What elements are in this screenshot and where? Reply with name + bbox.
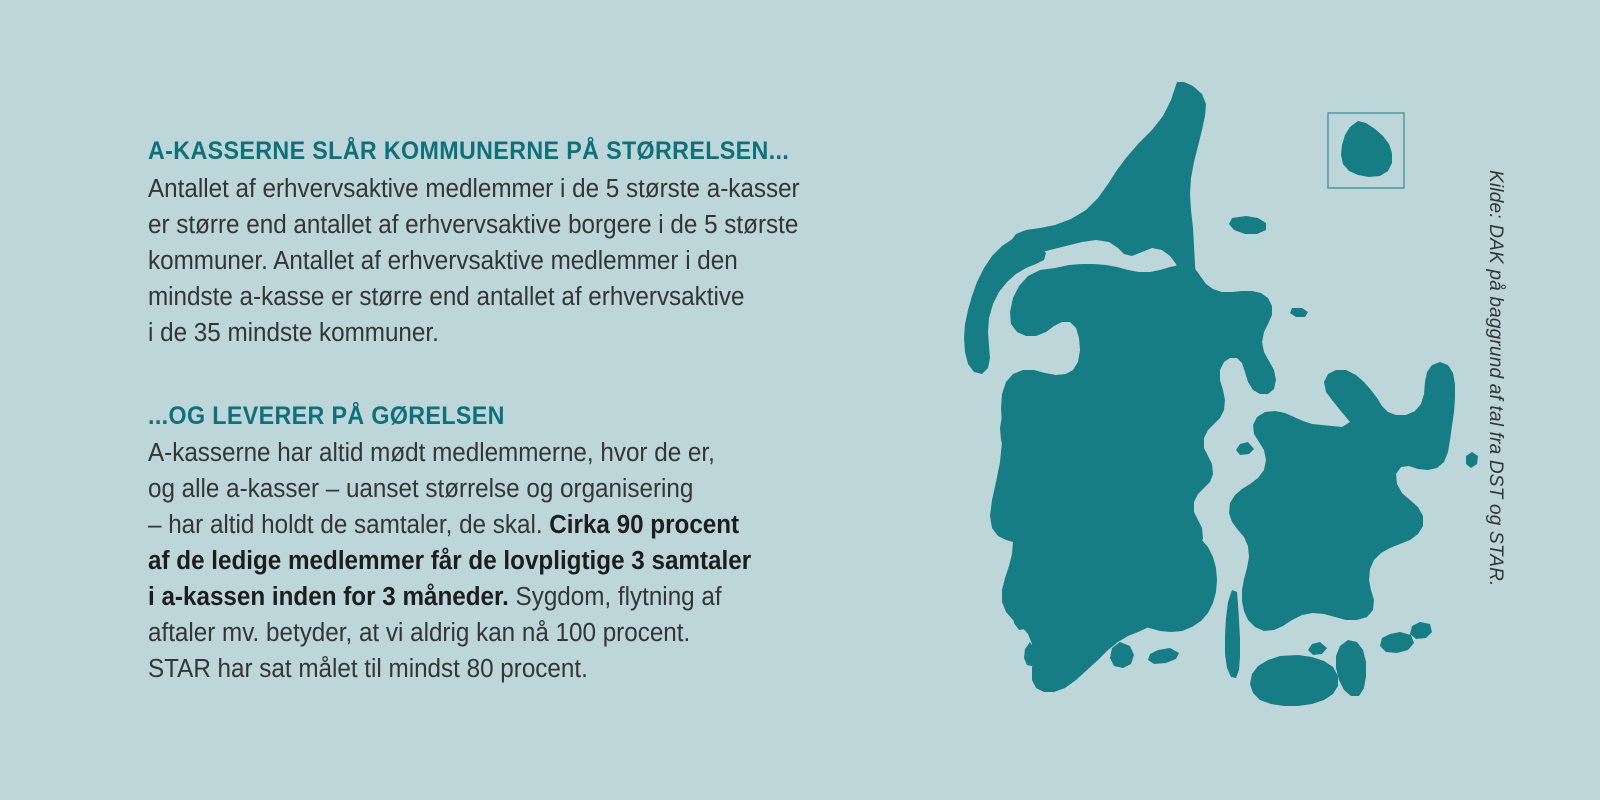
body-run: og alle a-kasser – uanset størrelse og o… (148, 475, 693, 503)
map-region-laeso (1229, 216, 1266, 234)
body-line: STAR har sat målet til mindst 80 procent… (148, 651, 870, 687)
map-region-ven (1466, 452, 1478, 468)
map-region-anholt (1290, 308, 1308, 317)
section-delivery: ...OG LEVERER PÅ GØRELSEN A-kasserne har… (148, 403, 908, 688)
infographic-canvas: A-KASSERNE SLÅR KOMMUNERNE PÅ STØRRELSEN… (0, 0, 1600, 800)
body-line: aftaler mv. betyder, at vi aldrig kan nå… (148, 615, 870, 651)
body-line: mindste a-kasse er større end antallet a… (148, 279, 870, 315)
body-run: Sygdom, flytning af (509, 583, 722, 611)
body-line: er større end antallet af erhvervsaktive… (148, 207, 870, 243)
body-line: i de 35 mindste kommuner. (148, 315, 870, 351)
body-line: af de ledige medlemmer får de lovpligtig… (148, 543, 870, 579)
body-line: – har altid holdt de samtaler, de skal. … (148, 507, 870, 543)
body-run: aftaler mv. betyder, at vi aldrig kan nå… (148, 619, 690, 647)
map-region-lolland (1250, 655, 1338, 706)
section-size-body: Antallet af erhvervsaktive medlemmer i d… (148, 171, 870, 351)
section-delivery-body: A-kasserne har altid mødt medlemmerne, h… (148, 435, 870, 687)
map-region-aero (1148, 648, 1179, 664)
source-credit: Kilde: DAK på baggrund af tal fra DST og… (1484, 170, 1506, 587)
map-region-mon (1380, 632, 1414, 653)
body-line: og alle a-kasser – uanset størrelse og o… (148, 471, 870, 507)
body-line: Antallet af erhvervsaktive medlemmer i d… (148, 171, 870, 207)
body-run-bold: af de ledige medlemmer får de lovpligtig… (148, 547, 751, 575)
body-run: – har altid holdt de samtaler, de skal. (148, 511, 549, 539)
denmark-map (880, 70, 1480, 710)
map-region-bornholm (1341, 121, 1392, 177)
map-region-langeland (1225, 590, 1240, 678)
bornholm-inset (1328, 113, 1404, 188)
map-region-sejero (1236, 442, 1254, 455)
body-run: STAR har sat målet til mindst 80 procent… (148, 655, 588, 683)
body-run-bold: i a-kassen inden for 3 måneder. (148, 583, 509, 611)
section-size-heading: A-KASSERNE SLÅR KOMMUNERNE PÅ STØRRELSEN… (148, 138, 855, 166)
map-region-sjaelland (1229, 362, 1455, 631)
text-column: A-KASSERNE SLÅR KOMMUNERNE PÅ STØRRELSEN… (148, 138, 908, 687)
section-size: A-KASSERNE SLÅR KOMMUNERNE PÅ STØRRELSEN… (148, 138, 908, 351)
map-region-falster (1336, 640, 1366, 696)
map-region-lolland-isle (1308, 642, 1327, 655)
body-line: i a-kassen inden for 3 måneder. Sygdom, … (148, 579, 870, 615)
body-line: A-kasserne har altid mødt medlemmerne, h… (148, 435, 870, 471)
body-line: kommuner. Antallet af erhvervsaktive med… (148, 243, 870, 279)
section-spacer (148, 351, 908, 403)
body-run: A-kasserne har altid mødt medlemmerne, h… (148, 439, 715, 467)
section-delivery-heading: ...OG LEVERER PÅ GØRELSEN (148, 403, 855, 431)
body-run-bold: Cirka 90 procent (549, 511, 739, 539)
map-region-mon-east (1410, 622, 1432, 639)
map-region-als (1110, 642, 1134, 668)
